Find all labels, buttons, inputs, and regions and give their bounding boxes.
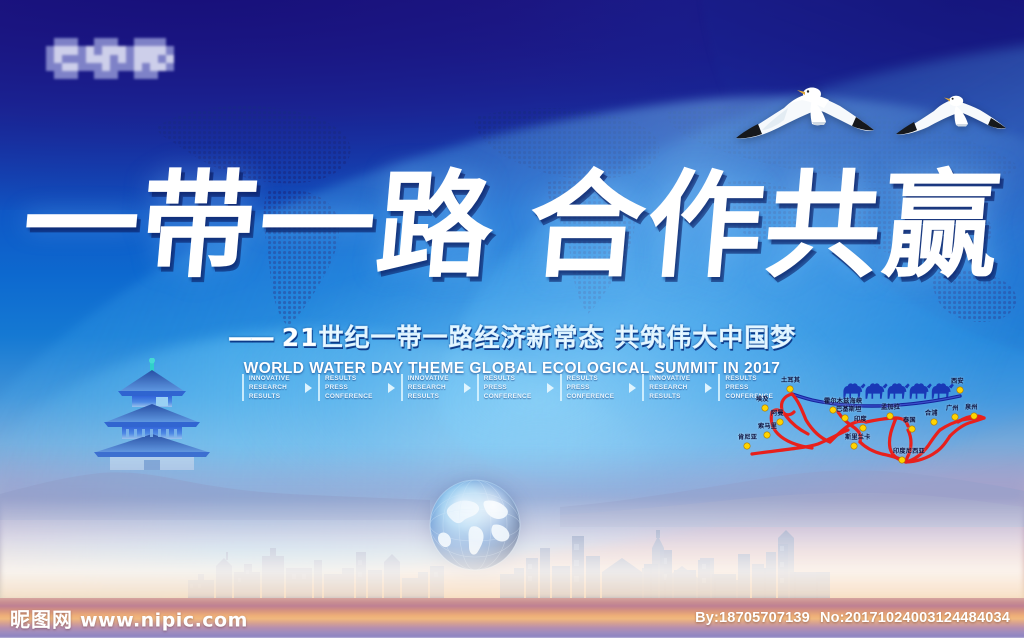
map-node-label: 孟加拉: [881, 405, 900, 411]
footer-watermark-bar: 昵图网 www.nipic.com By:18705707139 No:2017…: [0, 598, 1024, 638]
map-node-label: 广州: [946, 406, 959, 412]
footer-brand-cn: 昵图网: [10, 604, 73, 633]
chevron-right-icon: [547, 383, 554, 393]
map-node[interactable]: [860, 425, 866, 431]
map-node-label: 泉州: [965, 405, 978, 411]
map-node[interactable]: [971, 413, 977, 419]
footer-no: No:20171024003124484034: [820, 610, 1010, 626]
seagull-icon: [728, 46, 880, 154]
process-chip-label: RESULTSPRESSCONFERENCE: [484, 374, 532, 401]
map-node[interactable]: [952, 414, 958, 420]
map-node-label: 合浦: [925, 411, 938, 417]
map-node-label: 泰国: [903, 418, 916, 424]
map-node-label: 索马里: [758, 424, 777, 430]
title-part-1: 一带一路: [17, 159, 501, 294]
footer-brand: 昵图网 www.nipic.com: [10, 604, 248, 633]
process-chip[interactable]: INNOVATIVERESEARCHRESULTS: [401, 374, 458, 401]
process-chip-label: INNOVATIVERESEARCHRESULTS: [249, 374, 290, 401]
footer-meta: By:18705707139 No:20171024003124484034: [695, 610, 1010, 626]
page-title: 一带一路合作共赢: [0, 168, 1024, 286]
map-node[interactable]: [887, 413, 893, 419]
blurred-watermark-block: [38, 30, 190, 88]
subtitle-dash: ——: [228, 323, 272, 352]
process-chip-label: RESULTSPRESSCONFERENCE: [325, 374, 373, 401]
chevron-right-icon: [705, 383, 712, 393]
subtitle-chinese-text: 21世纪一带一路经济新常态 共筑伟大中国梦: [282, 323, 797, 352]
process-chip-label: INNOVATIVERESEARCHRESULTS: [408, 374, 449, 401]
subtitle-chinese: ——21世纪一带一路经济新常态 共筑伟大中国梦: [228, 318, 797, 354]
process-chip[interactable]: RESULTSPRESSCONFERENCE: [477, 374, 541, 401]
map-node[interactable]: [957, 387, 963, 393]
process-chip[interactable]: RESULTSPRESSCONFERENCE: [318, 374, 382, 401]
map-node-label: 巴基斯坦: [836, 407, 862, 413]
chevron-right-icon: [305, 383, 312, 393]
title-part-2: 合作共赢: [523, 159, 1007, 294]
process-chip-label: INNOVATIVERESEARCHRESULTS: [649, 374, 690, 401]
map-node-label: 肯尼亚: [738, 435, 757, 441]
map-node-label: 土耳其: [781, 378, 800, 384]
map-node-label: 印度: [854, 417, 867, 423]
process-chip[interactable]: RESULTSPRESSCONFERENCE: [560, 374, 624, 401]
chevron-right-icon: [464, 383, 471, 393]
process-chip[interactable]: INNOVATIVERESEARCHRESULTS: [242, 374, 299, 401]
poster-canvas: 一带一路合作共赢 ——21世纪一带一路经济新常态 共筑伟大中国梦 WORLD W…: [0, 0, 1024, 638]
chevron-right-icon: [388, 383, 395, 393]
footer-brand-url: www.nipic.com: [80, 610, 248, 632]
ground-fog: [0, 498, 1024, 600]
map-node[interactable]: [762, 405, 768, 411]
map-node[interactable]: [851, 443, 857, 449]
chevron-right-icon: [629, 383, 636, 393]
map-node[interactable]: [909, 426, 915, 432]
map-node-label: 西安: [951, 379, 964, 385]
process-chip[interactable]: INNOVATIVERESEARCHRESULTS: [642, 374, 699, 401]
map-node-label: 斯里兰卡: [845, 435, 871, 441]
map-node[interactable]: [842, 415, 848, 421]
process-chip-label: RESULTSPRESSCONFERENCE: [567, 374, 615, 401]
map-node[interactable]: [899, 457, 905, 463]
map-node[interactable]: [764, 432, 770, 438]
map-node[interactable]: [744, 443, 750, 449]
map-node-label: 埃及: [756, 397, 769, 403]
map-node-label: 阿曼: [771, 411, 784, 417]
silk-road-map: 土耳其埃及阿曼索马里肯尼亚霍尔木兹海峡巴基斯坦印度斯里兰卡孟加拉泰国印度尼西亚合…: [742, 372, 1024, 490]
camel-caravan-silhouette: [843, 383, 954, 398]
map-node[interactable]: [777, 419, 783, 425]
footer-by: By:18705707139: [695, 610, 810, 626]
map-node[interactable]: [931, 419, 937, 425]
map-node-label: 印度尼西亚: [893, 449, 925, 455]
seagull-icon: [890, 62, 1010, 148]
map-node-label: 霍尔木兹海峡: [824, 399, 862, 405]
map-node[interactable]: [787, 386, 793, 392]
